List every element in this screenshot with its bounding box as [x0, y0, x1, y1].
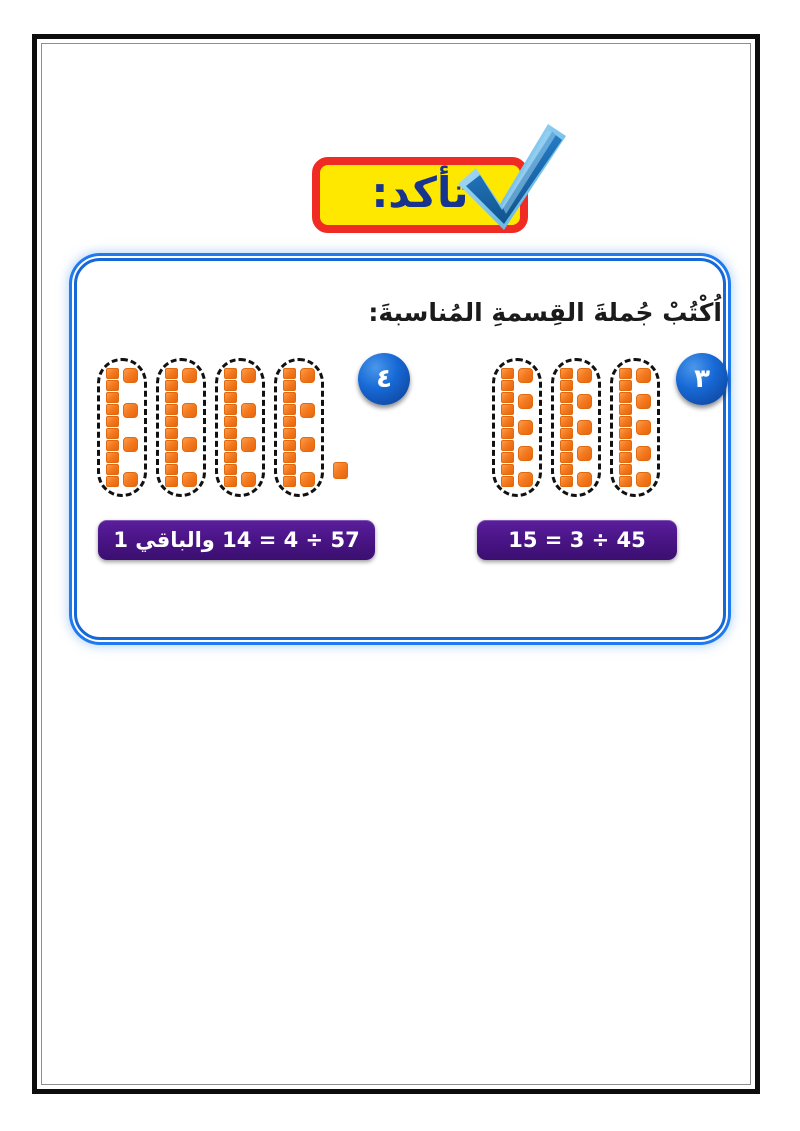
banner-notch-top-right [505, 167, 518, 180]
banner-notch-bottom-left [322, 210, 335, 223]
loose-cube-stack [241, 368, 256, 487]
ten-rod [224, 368, 237, 487]
unit-cube [123, 368, 138, 383]
unit-cube [560, 464, 573, 475]
unit-cube [636, 368, 651, 383]
unit-cube [283, 404, 296, 415]
unit-cube [165, 476, 178, 487]
unit-cube [560, 476, 573, 487]
unit-cube [106, 428, 119, 439]
unit-cube [241, 403, 256, 418]
unit-cube [619, 392, 632, 403]
unit-cube [619, 452, 632, 463]
ten-rod [283, 368, 296, 487]
block-group [551, 358, 601, 497]
block-group [215, 358, 265, 497]
block-group [156, 358, 206, 497]
title-banner-label: تأكد: [371, 172, 468, 218]
unit-cube [165, 464, 178, 475]
unit-cube [300, 437, 315, 452]
unit-cube [241, 472, 256, 487]
answer-text-problem-3: 45 ÷ 3 = 15 [508, 528, 646, 552]
unit-cube [619, 380, 632, 391]
loose-cube-stack [182, 368, 197, 487]
unit-cube [501, 428, 514, 439]
unit-cube [501, 464, 514, 475]
unit-cube [619, 368, 632, 379]
block-group [97, 358, 147, 497]
unit-cube [501, 440, 514, 451]
ten-rod [501, 368, 514, 487]
unit-cube [518, 420, 533, 435]
unit-cube [577, 368, 592, 383]
unit-cube [106, 368, 119, 379]
unit-cube [636, 446, 651, 461]
unit-cube [501, 368, 514, 379]
banner-notch-top-left [322, 167, 335, 180]
unit-cube [106, 476, 119, 487]
unit-cube [636, 472, 651, 487]
unit-cube [518, 394, 533, 409]
title-banner-plate: تأكد: [312, 157, 528, 233]
unit-cube [560, 404, 573, 415]
loose-cube-stack [636, 368, 651, 487]
unit-cube [501, 392, 514, 403]
unit-cube [283, 428, 296, 439]
unit-cube [283, 380, 296, 391]
unit-cube [560, 392, 573, 403]
unit-cube [182, 472, 197, 487]
unit-cube [224, 464, 237, 475]
unit-cube [182, 368, 197, 383]
unit-cube [560, 428, 573, 439]
unit-cube [283, 440, 296, 451]
unit-cube [106, 452, 119, 463]
unit-cube [106, 464, 119, 475]
answer-pill-problem-3: 45 ÷ 3 = 15 [477, 520, 677, 560]
unit-cube [165, 416, 178, 427]
unit-cube [182, 437, 197, 452]
answer-text-problem-4: 57 ÷ 4 = 14 والباقي 1 [113, 528, 359, 552]
block-group [492, 358, 542, 497]
unit-cube [123, 437, 138, 452]
unit-cube [619, 440, 632, 451]
unit-cube [300, 472, 315, 487]
unit-cube [619, 416, 632, 427]
problem-number-label-4: ٤ [376, 366, 392, 392]
unit-cube [501, 452, 514, 463]
unit-cube [619, 476, 632, 487]
unit-cube [518, 472, 533, 487]
loose-cube-stack [300, 368, 315, 487]
unit-cube [501, 404, 514, 415]
problem-number-label-3: ٣ [694, 366, 710, 392]
unit-cube [577, 446, 592, 461]
unit-cube [283, 452, 296, 463]
unit-cube [560, 452, 573, 463]
unit-cube [560, 380, 573, 391]
unit-cube [560, 440, 573, 451]
unit-cube [283, 464, 296, 475]
unit-cube [560, 368, 573, 379]
unit-cube [283, 476, 296, 487]
unit-cube [518, 368, 533, 383]
unit-cube [224, 452, 237, 463]
block-group [274, 358, 324, 497]
unit-cube [224, 404, 237, 415]
ten-rod [165, 368, 178, 487]
ten-rod [619, 368, 632, 487]
ten-rod [106, 368, 119, 487]
title-banner: تأكد: [312, 157, 528, 233]
unit-cube [165, 428, 178, 439]
unit-cube [165, 440, 178, 451]
unit-cube [123, 403, 138, 418]
unit-cube [636, 394, 651, 409]
block-diagram-problem-4 [97, 358, 348, 497]
unit-cube [165, 392, 178, 403]
block-diagram-problem-3 [492, 358, 660, 497]
unit-cube [106, 380, 119, 391]
loose-cube-stack [518, 368, 533, 487]
unit-cube [619, 464, 632, 475]
unit-cube [577, 394, 592, 409]
unit-cube [577, 420, 592, 435]
unit-cube [165, 380, 178, 391]
unit-cube [106, 404, 119, 415]
unit-cube [165, 404, 178, 415]
unit-cube [106, 416, 119, 427]
unit-cube [241, 368, 256, 383]
loose-cube-stack [123, 368, 138, 487]
instruction-text: اُكْتُبْ جُملةَ القِسمةِ المُناسبةَ: [368, 298, 722, 327]
unit-cube [224, 416, 237, 427]
unit-cube [560, 416, 573, 427]
unit-cube [283, 416, 296, 427]
unit-cube [241, 437, 256, 452]
unit-cube [518, 446, 533, 461]
unit-cube [165, 452, 178, 463]
unit-cube [224, 380, 237, 391]
unit-cube [501, 416, 514, 427]
banner-notch-bottom-right [505, 210, 518, 223]
remainder-cube [333, 462, 348, 479]
unit-cube [182, 403, 197, 418]
unit-cube [123, 472, 138, 487]
answer-pill-problem-4: 57 ÷ 4 = 14 والباقي 1 [98, 520, 375, 560]
unit-cube [224, 428, 237, 439]
unit-cube [106, 440, 119, 451]
unit-cube [501, 380, 514, 391]
unit-cube [577, 472, 592, 487]
unit-cube [300, 368, 315, 383]
ten-rod [560, 368, 573, 487]
unit-cube [106, 392, 119, 403]
unit-cube [501, 476, 514, 487]
block-group [610, 358, 660, 497]
unit-cube [224, 476, 237, 487]
unit-cube [283, 392, 296, 403]
loose-cube-stack [577, 368, 592, 487]
unit-cube [224, 392, 237, 403]
unit-cube [619, 428, 632, 439]
unit-cube [224, 440, 237, 451]
problem-number-badge-3: ٣ [676, 353, 728, 405]
unit-cube [283, 368, 296, 379]
unit-cube [224, 368, 237, 379]
problem-number-badge-4: ٤ [358, 353, 410, 405]
unit-cube [636, 420, 651, 435]
unit-cube [300, 403, 315, 418]
unit-cube [619, 404, 632, 415]
unit-cube [165, 368, 178, 379]
